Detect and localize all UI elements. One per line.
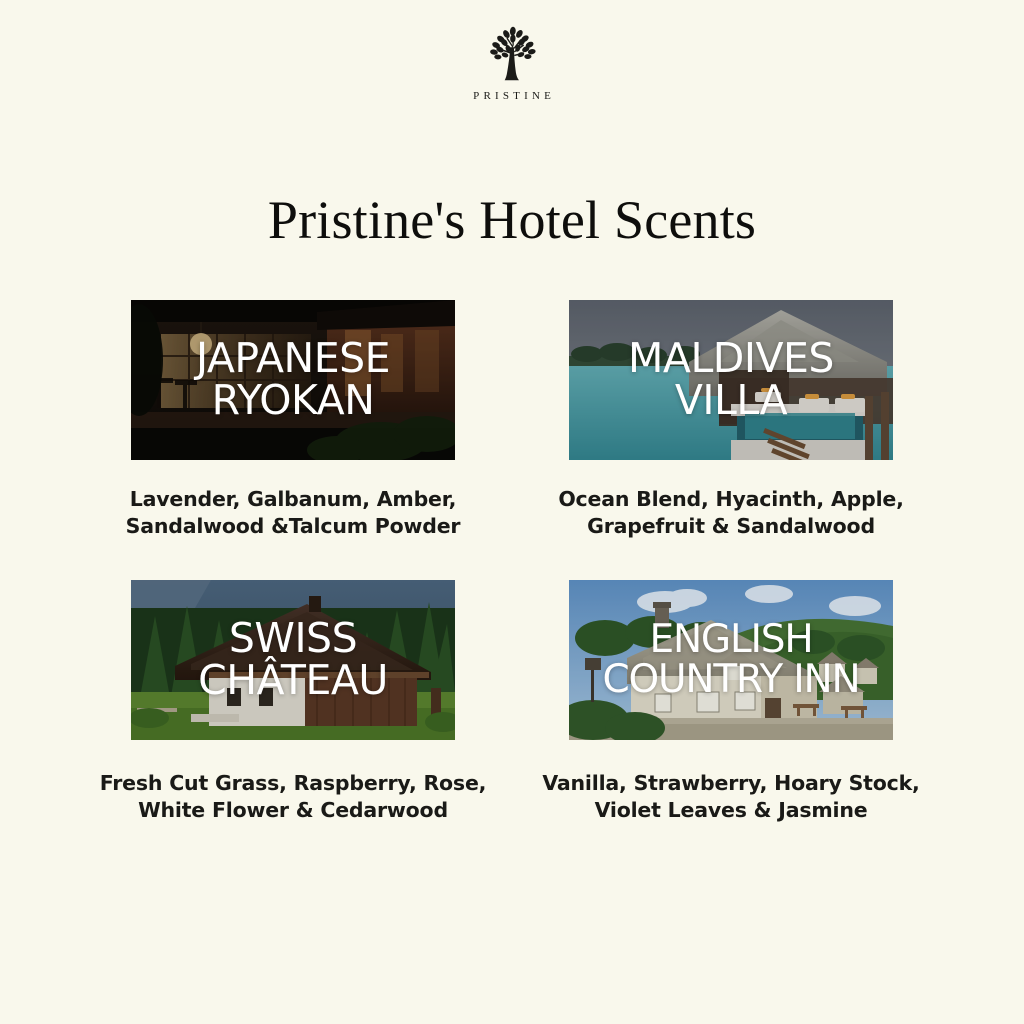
scent-card-grid: JAPANESE RYOKAN Lavender, Galbanum, Ambe…: [131, 300, 893, 824]
scent-caption-maldives-villa: Ocean Blend, Hyacinth, Apple, Grapefruit…: [516, 486, 946, 540]
scent-label-maldives-villa: MALDIVES VILLA: [569, 300, 893, 460]
scent-thumbnail-maldives-villa[interactable]: MALDIVES VILLA: [569, 300, 893, 460]
tree-icon: [481, 24, 543, 86]
scent-caption-japanese-ryokan: Lavender, Galbanum, Amber, Sandalwood &T…: [78, 486, 508, 540]
brand-header: PRISTINE: [0, 24, 1024, 102]
scent-thumbnail-english-country-inn[interactable]: ENGLISH COUNTRY INN: [569, 580, 893, 740]
scent-label-japanese-ryokan: JAPANESE RYOKAN: [131, 300, 455, 460]
scent-card-swiss-chateau[interactable]: SWISS CHÂTEAU Fresh Cut Grass, Raspberry…: [131, 580, 455, 824]
scent-caption-english-country-inn: Vanilla, Strawberry, Hoary Stock, Violet…: [516, 770, 946, 824]
scent-label-english-country-inn: ENGLISH COUNTRY INN: [569, 580, 893, 740]
scent-card-english-country-inn[interactable]: ENGLISH COUNTRY INN Vanilla, Strawberry,…: [569, 580, 893, 824]
scent-collection-poster: PRISTINE Pristine's Hotel Scents: [0, 0, 1024, 1024]
scent-thumbnail-japanese-ryokan[interactable]: JAPANESE RYOKAN: [131, 300, 455, 460]
scent-card-maldives-villa[interactable]: MALDIVES VILLA Ocean Blend, Hyacinth, Ap…: [569, 300, 893, 540]
scent-caption-swiss-chateau: Fresh Cut Grass, Raspberry, Rose, White …: [78, 770, 508, 824]
page-title: Pristine's Hotel Scents: [0, 191, 1024, 250]
scent-thumbnail-swiss-chateau[interactable]: SWISS CHÂTEAU: [131, 580, 455, 740]
scent-card-japanese-ryokan[interactable]: JAPANESE RYOKAN Lavender, Galbanum, Ambe…: [131, 300, 455, 540]
scent-label-swiss-chateau: SWISS CHÂTEAU: [131, 580, 455, 740]
brand-name: PRISTINE: [469, 91, 555, 102]
